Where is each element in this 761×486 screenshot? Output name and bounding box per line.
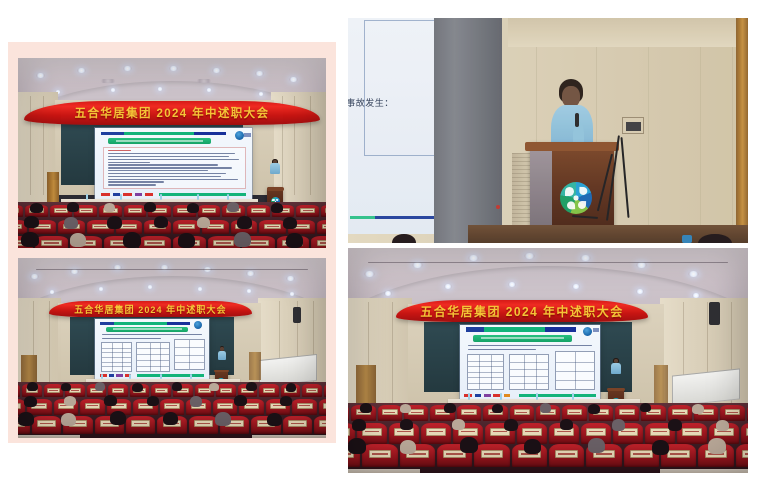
photo-bottom-left-frame: 五合华居集团 2024 年中述职大会 xyxy=(8,252,336,443)
audience-seating-br xyxy=(348,403,748,473)
podium-clover-logo xyxy=(560,182,592,214)
slide-title-bar xyxy=(108,138,212,144)
photo-top-left[interactable]: 五合华居集团 2024 年中述职大会 xyxy=(18,58,326,248)
photo-bottom-left[interactable]: 五合华居集团 2024 年中述职大会 xyxy=(18,258,326,438)
audience-seating-bl xyxy=(18,382,326,438)
microphone xyxy=(575,113,579,127)
stage-banner-br: 五合华居集团 2024 年中述职大会 xyxy=(396,300,648,323)
wood-panel xyxy=(736,18,748,243)
photo-collage: 五合华居集团 2024 年中述职大会 xyxy=(0,0,761,486)
projection-screen xyxy=(95,128,252,198)
slide-table-br-1 xyxy=(467,354,504,390)
slide-table-br-2 xyxy=(509,354,549,390)
photo-top-right[interactable]: 事故发生： xyxy=(348,18,748,243)
projection-screen-bl xyxy=(95,319,209,378)
stage-banner-text-bl: 五合华居集团 2024 年中述职大会 xyxy=(74,302,226,316)
speaker-figure-bl xyxy=(215,346,229,364)
stage-banner-bl: 五合华居集团 2024 年中述职大会 xyxy=(49,301,252,317)
speaker-figure xyxy=(266,159,284,181)
speaker-figure-br xyxy=(608,358,624,378)
audience-seating xyxy=(18,202,326,248)
slide-title-bar-br xyxy=(473,335,572,342)
photo-bottom-right[interactable]: 五合华居集团 2024 年中述职大会 xyxy=(348,248,748,473)
slide-table-3 xyxy=(174,339,206,371)
stage-banner-text-br: 五合华居集团 2024 年中述职大会 xyxy=(420,302,623,320)
slide-screen-text: 事故发生： xyxy=(348,96,394,109)
slide-table-1 xyxy=(101,342,133,373)
slide-title-bar-bl xyxy=(106,327,188,332)
photo-top-left-frame: 五合华居集团 2024 年中述职大会 xyxy=(8,42,336,254)
slide-table-2 xyxy=(136,342,170,373)
projection-screen-detail: 事故发生： xyxy=(348,18,436,234)
stage-banner-text: 五合华居集团 2024 年中述职大会 xyxy=(75,105,270,122)
slide-table-br-3 xyxy=(555,351,595,390)
projection-screen-br xyxy=(460,325,600,399)
stage-banner: 五合华居集团 2024 年中述职大会 xyxy=(24,101,320,126)
pillar xyxy=(434,18,502,243)
